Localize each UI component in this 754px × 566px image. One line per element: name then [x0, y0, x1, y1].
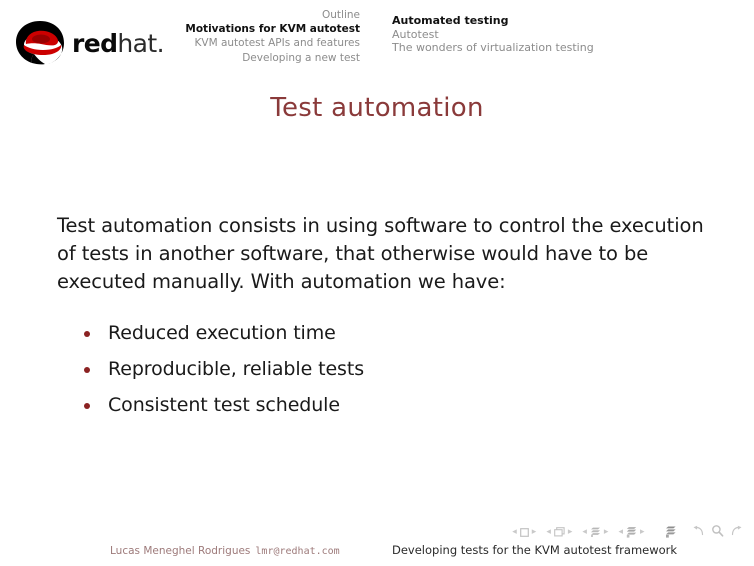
frame-next-icon[interactable]: ▸ [568, 528, 573, 537]
header-nav-sections: Outline Motivations for KVM autotest KVM… [168, 8, 360, 65]
list-item-label: Consistent test schedule [108, 394, 340, 416]
slide-prev-icon[interactable]: ◂ [512, 528, 517, 537]
subsection-icon[interactable] [590, 527, 601, 538]
bullet-dot-icon [84, 367, 90, 373]
body-paragraph: Test automation consists in using softwa… [57, 212, 707, 296]
footer-author: Lucas Meneghel Rodrigueslmr@redhat.com [110, 545, 340, 557]
slide-header: redhat. Outline Motivations for KVM auto… [0, 0, 754, 74]
footer-subject: Developing tests for the KVM autotest fr… [392, 543, 677, 557]
slide-content: Test automation consists in using softwa… [57, 212, 707, 430]
redhat-logo: redhat. [14, 18, 164, 68]
slide-next-icon[interactable]: ▸ [532, 528, 537, 537]
nav-group-section: ◂ ▸ [617, 527, 646, 538]
slide-footer: ◂ ▸ ◂ ▸ ◂ [0, 514, 754, 566]
list-item-label: Reduced execution time [108, 322, 336, 344]
frame-prev-icon[interactable]: ◂ [546, 528, 551, 537]
nav-item-autotest[interactable]: Autotest [392, 28, 692, 42]
nav-group-subsection: ◂ ▸ [581, 527, 610, 538]
nav-item-automated-testing[interactable]: Automated testing [392, 14, 692, 28]
beamer-navigation-symbols: ◂ ▸ ◂ ▸ ◂ [511, 525, 746, 539]
nav-group-document [662, 523, 680, 542]
back-arrow-icon[interactable] [692, 525, 705, 540]
section-next-icon[interactable]: ▸ [640, 528, 645, 537]
subsection-next-icon[interactable]: ▸ [604, 528, 609, 537]
slide-icon[interactable] [520, 528, 529, 537]
nav-group-slide: ◂ ▸ [511, 528, 538, 537]
document-icon[interactable] [665, 523, 677, 542]
list-item: Consistent test schedule [84, 394, 707, 417]
list-item: Reduced execution time [84, 322, 707, 345]
redhat-shadowman-icon [14, 20, 66, 66]
frame-icon[interactable] [554, 527, 565, 537]
nav-item-wonders-of-virtualization-testing[interactable]: The wonders of virtualization testing [392, 41, 692, 55]
list-item: Reproducible, reliable tests [84, 358, 707, 381]
header-nav-subsections: Automated testing Autotest The wonders o… [392, 14, 692, 55]
footer-author-email[interactable]: lmr@redhat.com [255, 546, 339, 557]
forward-arrow-icon[interactable] [730, 525, 743, 540]
subsection-prev-icon[interactable]: ◂ [582, 528, 587, 537]
nav-item-motivations-for-kvm-autotest[interactable]: Motivations for KVM autotest [168, 22, 360, 36]
nav-group-frame: ◂ ▸ [545, 527, 574, 537]
redhat-wordmark: redhat. [72, 31, 164, 56]
benefits-list: Reduced execution time Reproducible, rel… [57, 322, 707, 417]
search-magnifier-icon[interactable] [711, 524, 724, 540]
nav-item-outline[interactable]: Outline [168, 8, 360, 22]
logo-word-hat: hat [117, 29, 156, 58]
slide-title: Test automation [0, 93, 754, 123]
bullet-dot-icon [84, 331, 90, 337]
list-item-label: Reproducible, reliable tests [108, 358, 364, 380]
bullet-dot-icon [84, 403, 90, 409]
footer-author-name: Lucas Meneghel Rodrigues [110, 545, 250, 557]
logo-word-dot: . [157, 29, 164, 58]
nav-item-developing-a-new-test[interactable]: Developing a new test [168, 51, 360, 65]
nav-group-history [689, 524, 746, 540]
logo-word-red: red [72, 29, 117, 58]
section-icon[interactable] [626, 527, 637, 538]
nav-item-kvm-autotest-apis-and-features[interactable]: KVM autotest APIs and features [168, 36, 360, 50]
section-prev-icon[interactable]: ◂ [618, 528, 623, 537]
